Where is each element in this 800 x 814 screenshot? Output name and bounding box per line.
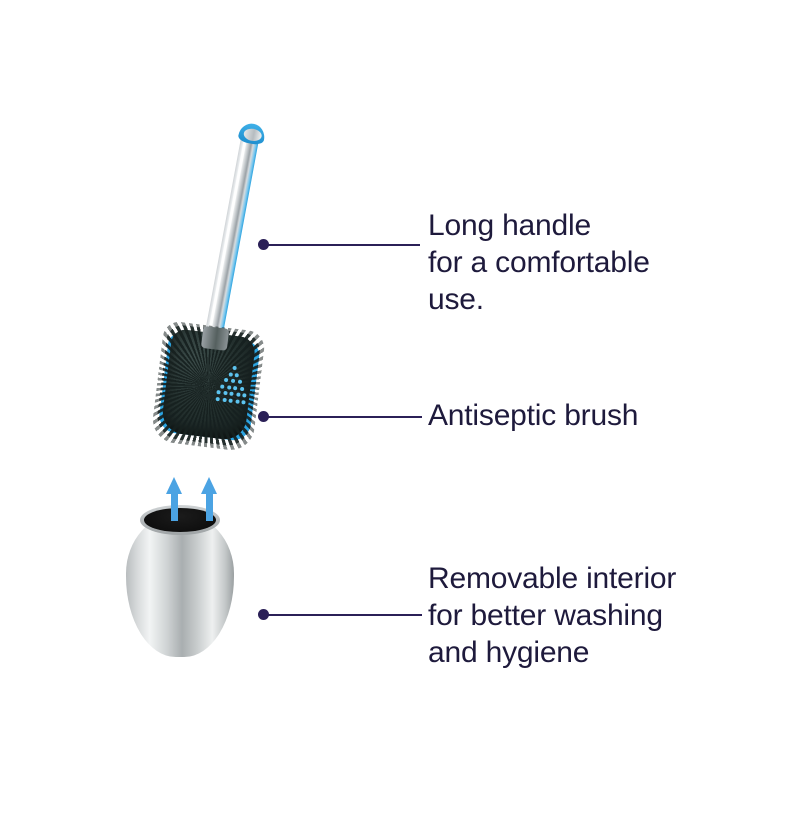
brush-dot [236, 393, 240, 397]
brush-dot [227, 385, 231, 389]
up-arrow-right [201, 477, 217, 521]
infographic-canvas: Long handle for a comfortable use. Antis… [0, 0, 800, 814]
brush-dot-pattern [205, 363, 250, 412]
brush-dot [240, 387, 244, 391]
brush-dot [229, 399, 233, 403]
leader-line-antiseptic-brush [267, 416, 422, 418]
brush-dot [237, 380, 241, 384]
callout-removable-interior: Removable interior for better washing an… [428, 560, 676, 671]
brush-dot [229, 392, 233, 396]
leader-long-handle [258, 236, 420, 250]
brush-dot [222, 398, 226, 402]
brush-head [157, 328, 262, 448]
leader-antiseptic-brush [258, 408, 422, 422]
up-arrow-left-shaft [171, 491, 178, 521]
brush-dot [232, 366, 236, 370]
brush-dot [233, 386, 237, 390]
brush-neck [201, 326, 229, 351]
up-arrow-right-shaft [206, 491, 213, 521]
callout-long-handle: Long handle for a comfortable use. [428, 207, 650, 318]
handle-highlight [203, 134, 247, 357]
brush-dot [224, 378, 228, 382]
brush-dot [215, 397, 219, 401]
callout-antiseptic-brush: Antiseptic brush [428, 397, 638, 434]
brush-dot [235, 373, 239, 377]
leader-line-long-handle [267, 244, 420, 246]
handle-cap-inner [243, 127, 263, 142]
brush-dot [235, 399, 239, 403]
brush-dot [228, 372, 232, 376]
leader-line-removable-interior [267, 614, 422, 616]
brush-dot [231, 379, 235, 383]
brush-dot [220, 384, 224, 388]
up-arrow-left [166, 477, 182, 521]
brush-dot [223, 391, 227, 395]
leader-removable-interior [258, 606, 422, 620]
brush-dot [216, 390, 220, 394]
brush-holder [126, 505, 234, 657]
